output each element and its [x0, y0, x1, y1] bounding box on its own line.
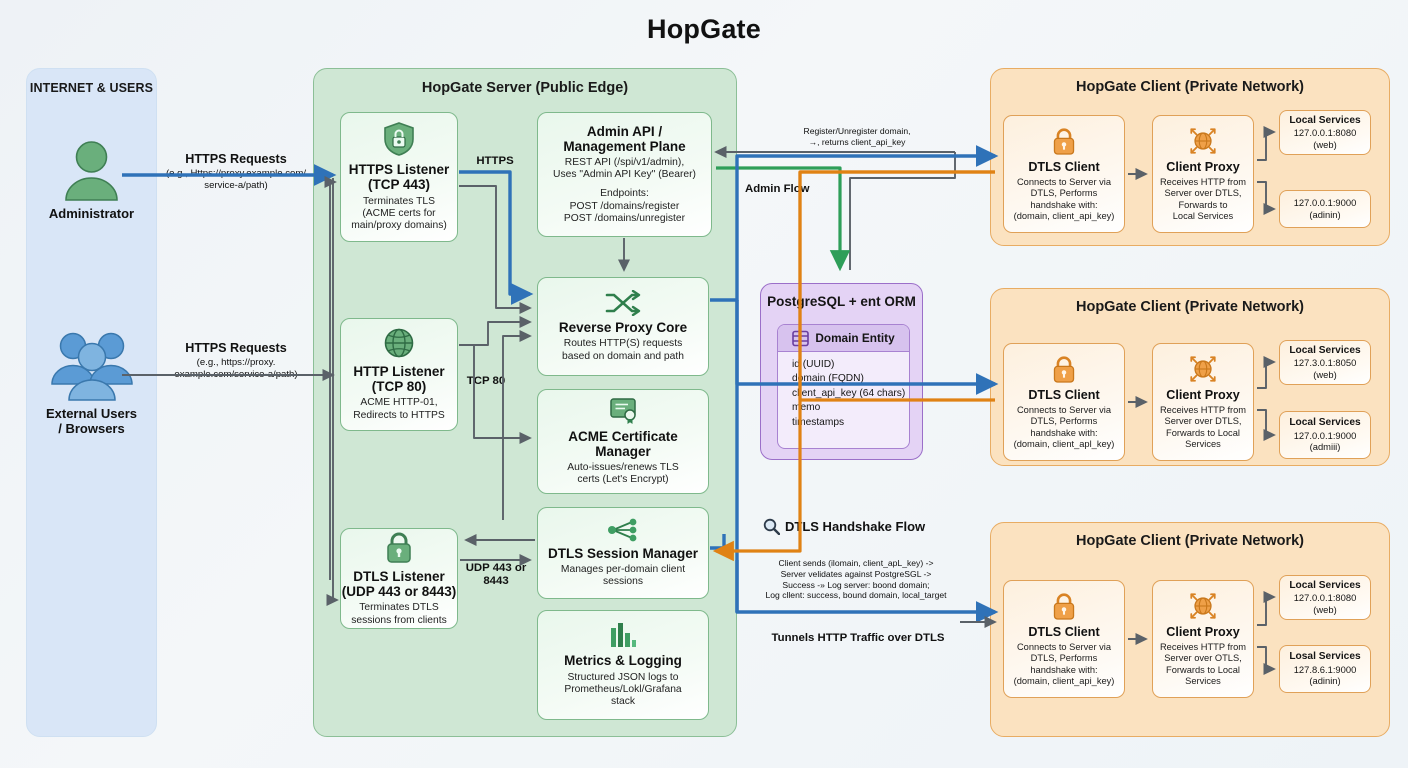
box-dtls-session-manager[interactable]: DTLS Session Manager Manages per-domain …: [537, 507, 709, 599]
annotation-admin-flow: Admin Flow: [745, 183, 855, 196]
client-2-service-2[interactable]: Local Services 127.0.0.1:9000 (admiii): [1279, 411, 1371, 459]
entity-field: client_api_key (64 chars): [792, 387, 909, 401]
external-users-label: External Users / Browsers: [26, 406, 157, 437]
dtls-session-manager-title: DTLS Session Manager: [548, 546, 698, 561]
padlock-icon: [1051, 591, 1077, 621]
client-1-dtls-client[interactable]: DTLS Client Connects to Server via DTLS,…: [1003, 115, 1125, 233]
dtls-listener-title: DTLS Listener (UDP 443 or 8443): [342, 569, 457, 599]
client-3-client-proxy[interactable]: Client Proxy Receives HTTP from Server o…: [1152, 580, 1254, 698]
box-postgresql[interactable]: PostgreSQL + ent ORM Domain Entity id (U…: [760, 283, 923, 460]
shuffle-icon: [605, 290, 641, 316]
metrics-logging-title: Metrics & Logging: [564, 653, 682, 668]
client-2-service-1[interactable]: Local Services 127.3.0.1:8050 (web): [1279, 340, 1371, 385]
client-2-service-1-addr: 127.3.0.1:8050 (web): [1294, 357, 1357, 380]
admin-api-sub: REST API (/spi/v1/admin), Uses "Admin AP…: [553, 157, 696, 182]
client-2-dtls-sub: Connects to Server via DTLS, Performs ha…: [1014, 405, 1115, 450]
edge-label-https: HTTPS: [462, 155, 528, 168]
dtls-listener-sub: Terminates DTLS sessions from clients: [351, 602, 447, 627]
group-client-2-title: HopGate Client (Private Network): [991, 299, 1389, 315]
client-2-service-1-label: Local Services: [1289, 345, 1360, 358]
client-1-dtls-title: DTLS Client: [1028, 160, 1099, 174]
network-globe-icon: [1188, 591, 1218, 621]
entity-field: domain (FQDN): [792, 372, 909, 386]
admin-api-endpoints: Endpoints: POST /domains/register POST /…: [564, 188, 685, 225]
entity-field: timestamps: [792, 416, 909, 430]
domain-entity-title: Domain Entity: [815, 331, 894, 345]
https-listener-sub: Terminates TLS (ACME certs for main/prox…: [351, 196, 447, 233]
client-2-dtls-client[interactable]: DTLS Client Connects to Server via DTLS,…: [1003, 343, 1125, 461]
client-1-service-1-label: Local Services: [1289, 115, 1360, 128]
network-globe-icon: [1188, 354, 1218, 384]
client-3-service-2-addr: 127.8.6.1:9000 (adinin): [1294, 664, 1357, 687]
client-1-service-2-addr: 127.0.0.1:9000 (adinin): [1294, 197, 1357, 220]
client-2-service-2-addr: 127.0.0.1:9000 (admiii): [1294, 430, 1357, 453]
reverse-proxy-core-sub: Routes HTTP(S) requests based on domain …: [562, 338, 684, 363]
https-listener-title: HTTPS Listener (TCP 443): [349, 162, 450, 192]
globe-icon: [383, 327, 415, 359]
client-3-dtls-title: DTLS Client: [1028, 625, 1099, 639]
acme-manager-sub: Auto-issues/renews TLS certs (Let's Encr…: [567, 462, 678, 487]
request-users-title: HTTPS Requests: [130, 341, 342, 356]
client-3-service-2[interactable]: Losal Services 127.8.6.1:9000 (adinin): [1279, 645, 1371, 693]
group-client-3-title: HopGate Client (Private Network): [991, 533, 1389, 549]
shield-lock-icon: [382, 121, 416, 157]
client-3-proxy-sub: Receives HTTP from Server over OTLS, For…: [1160, 642, 1246, 687]
client-1-proxy-sub: Receives HTTP from Server over DTLS, For…: [1160, 177, 1246, 222]
edge-label-tcp80: TCP 80: [456, 375, 516, 388]
padlock-icon: [1051, 126, 1077, 156]
client-1-client-proxy[interactable]: Client Proxy Receives HTTP from Server o…: [1152, 115, 1254, 233]
admin-api-title: Admin API / Management Plane: [563, 124, 685, 154]
client-3-service-2-label: Losal Services: [1289, 651, 1360, 664]
administrator-label: Administrator: [26, 206, 157, 221]
http-listener-title: HTTP Listener (TCP 80): [353, 364, 444, 394]
page-title: HopGate: [0, 14, 1408, 45]
box-metrics-logging[interactable]: Metrics & Logging Structured JSON logs t…: [537, 610, 709, 720]
annotation-tunnel: Tunnels HTTP Traffic over DTLS: [724, 632, 992, 645]
domain-entity-card: Domain Entity id (UUID) domain (FQDN) cl…: [777, 324, 910, 449]
group-internet-title: INTERNET & USERS: [27, 81, 156, 95]
request-admin-title: HTTPS Requests: [130, 152, 342, 167]
box-https-listener[interactable]: HTTPS Listener (TCP 443) Terminates TLS …: [340, 112, 458, 242]
http-listener-sub: ACME HTTP-01, Redirects to HTTPS: [353, 397, 445, 422]
padlock-icon: [384, 530, 414, 564]
client-3-dtls-client[interactable]: DTLS Client Connects to Server via DTLS,…: [1003, 580, 1125, 698]
domain-entity-fields: id (UUID) domain (FQDN) client_api_key (…: [778, 352, 909, 430]
request-admin-detail: (e.g., Https://proxy.example.com/ servic…: [130, 168, 342, 191]
acme-manager-title: ACME Certificate Manager: [568, 429, 678, 459]
annotation-handshake-detail: Client sends (ilomain, client_apL_key) -…: [728, 558, 984, 601]
client-3-service-1-addr: 127.0.0.1:8080 (web): [1294, 592, 1357, 615]
box-admin-api[interactable]: Admin API / Management Plane REST API (/…: [537, 112, 712, 237]
client-3-proxy-title: Client Proxy: [1166, 625, 1239, 639]
network-globe-icon: [1188, 126, 1218, 156]
client-2-dtls-title: DTLS Client: [1028, 388, 1099, 402]
annotation-handshake-flow: DTLS Handshake Flow: [763, 518, 925, 535]
postgresql-title: PostgreSQL + ent ORM: [761, 294, 922, 309]
bar-chart-icon: [607, 621, 639, 649]
request-users-detail: (e.g., https://proxy. example.com/servic…: [130, 357, 342, 380]
edge-label-udp: UDP 443 or 8443: [462, 562, 530, 588]
request-label-users: HTTPS Requests (e.g., https://proxy. exa…: [130, 341, 342, 380]
client-2-proxy-title: Client Proxy: [1166, 388, 1239, 402]
client-2-service-2-label: Local Services: [1289, 417, 1360, 430]
reverse-proxy-core-title: Reverse Proxy Core: [559, 320, 687, 335]
table-icon: [792, 330, 809, 347]
magnifier-icon: [763, 518, 780, 535]
box-reverse-proxy-core[interactable]: Reverse Proxy Core Routes HTTP(S) reques…: [537, 277, 709, 376]
domain-entity-header: Domain Entity: [778, 325, 909, 352]
metrics-logging-sub: Structured JSON logs to Prometheus/Lokl/…: [564, 672, 681, 709]
share-nodes-icon: [606, 518, 640, 542]
group-client-1-title: HopGate Client (Private Network): [991, 79, 1389, 95]
client-1-service-1-addr: 127.0.0.1:8080 (web): [1294, 127, 1357, 150]
handshake-flow-label: DTLS Handshake Flow: [785, 519, 925, 534]
box-dtls-listener[interactable]: DTLS Listener (UDP 443 or 8443) Terminat…: [340, 528, 458, 629]
client-3-dtls-sub: Connects to Server via DTLS, Performs ha…: [1014, 642, 1115, 687]
request-label-admin: HTTPS Requests (e.g., Https://proxy.exam…: [130, 152, 342, 191]
client-2-proxy-sub: Receives HTTP from Server over DTLS, For…: [1160, 405, 1246, 450]
box-acme-certificate-manager[interactable]: ACME Certificate Manager Auto-issues/ren…: [537, 389, 709, 494]
client-3-service-1[interactable]: Local Services 127.0.0.1:8080 (web): [1279, 575, 1371, 620]
entity-field: memo: [792, 401, 909, 415]
annotation-register-domain: Register/Unregister domain, →, returns c…: [740, 126, 974, 148]
client-1-proxy-title: Client Proxy: [1166, 160, 1239, 174]
client-3-service-1-label: Local Services: [1289, 580, 1360, 593]
padlock-icon: [1051, 354, 1077, 384]
client-1-service-1[interactable]: Local Services 127.0.0.1:8080 (web): [1279, 110, 1371, 155]
dtls-session-manager-sub: Manages per-domain client sessions: [561, 564, 685, 589]
entity-field: id (UUID): [792, 358, 909, 372]
client-1-dtls-sub: Connects to Server via DTLS, Performs ha…: [1014, 177, 1115, 222]
client-1-service-2[interactable]: 127.0.0.1:9000 (adinin): [1279, 190, 1371, 228]
certificate-icon: [608, 397, 638, 425]
client-2-client-proxy[interactable]: Client Proxy Receives HTTP from Server o…: [1152, 343, 1254, 461]
box-http-listener[interactable]: HTTP Listener (TCP 80) ACME HTTP-01, Red…: [340, 318, 458, 431]
group-server-title: HopGate Server (Public Edge): [314, 80, 736, 96]
